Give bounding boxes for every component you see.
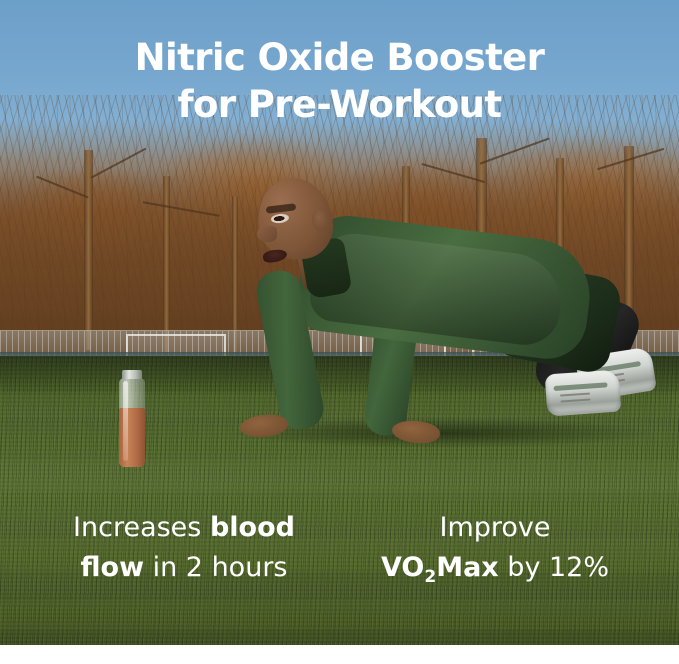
- caption-vo2max: Improve VO2Max by 12%: [355, 508, 635, 591]
- caption-right-line2-bold-prefix: VO: [381, 552, 424, 583]
- caption-blood-flow: Increases blood flow in 2 hours: [44, 508, 324, 588]
- caption-left-line1-prefix: Increases: [73, 512, 210, 543]
- athlete-mouth: [262, 248, 287, 263]
- shoe-lace: [560, 393, 590, 397]
- headline-text: Nitric Oxide Booster for Pre-Workout: [0, 34, 679, 128]
- athlete-nose: [257, 226, 277, 242]
- caption-right-subscript: 2: [424, 567, 436, 587]
- caption-left-line2-suffix: in 2 hours: [144, 552, 287, 583]
- bottom-white-strip: [0, 645, 679, 664]
- shoe-stripe: [553, 382, 607, 391]
- caption-left-line2-bold: flow: [81, 552, 145, 583]
- caption-right-line2-suffix: by 12%: [499, 552, 609, 583]
- athlete-ear: [312, 208, 329, 231]
- benefit-captions: Increases blood flow in 2 hours Improve …: [0, 508, 679, 591]
- caption-right-line1: Improve: [439, 512, 550, 543]
- background-photo: Nitric Oxide Booster for Pre-Workout Inc…: [0, 0, 679, 645]
- advertisement-banner: Nitric Oxide Booster for Pre-Workout Inc…: [0, 0, 679, 664]
- running-shoe: [545, 369, 622, 416]
- caption-right-line2-bold-suffix: Max: [436, 552, 499, 583]
- shoe-lace: [560, 398, 590, 402]
- caption-left-line1-bold: blood: [210, 512, 295, 543]
